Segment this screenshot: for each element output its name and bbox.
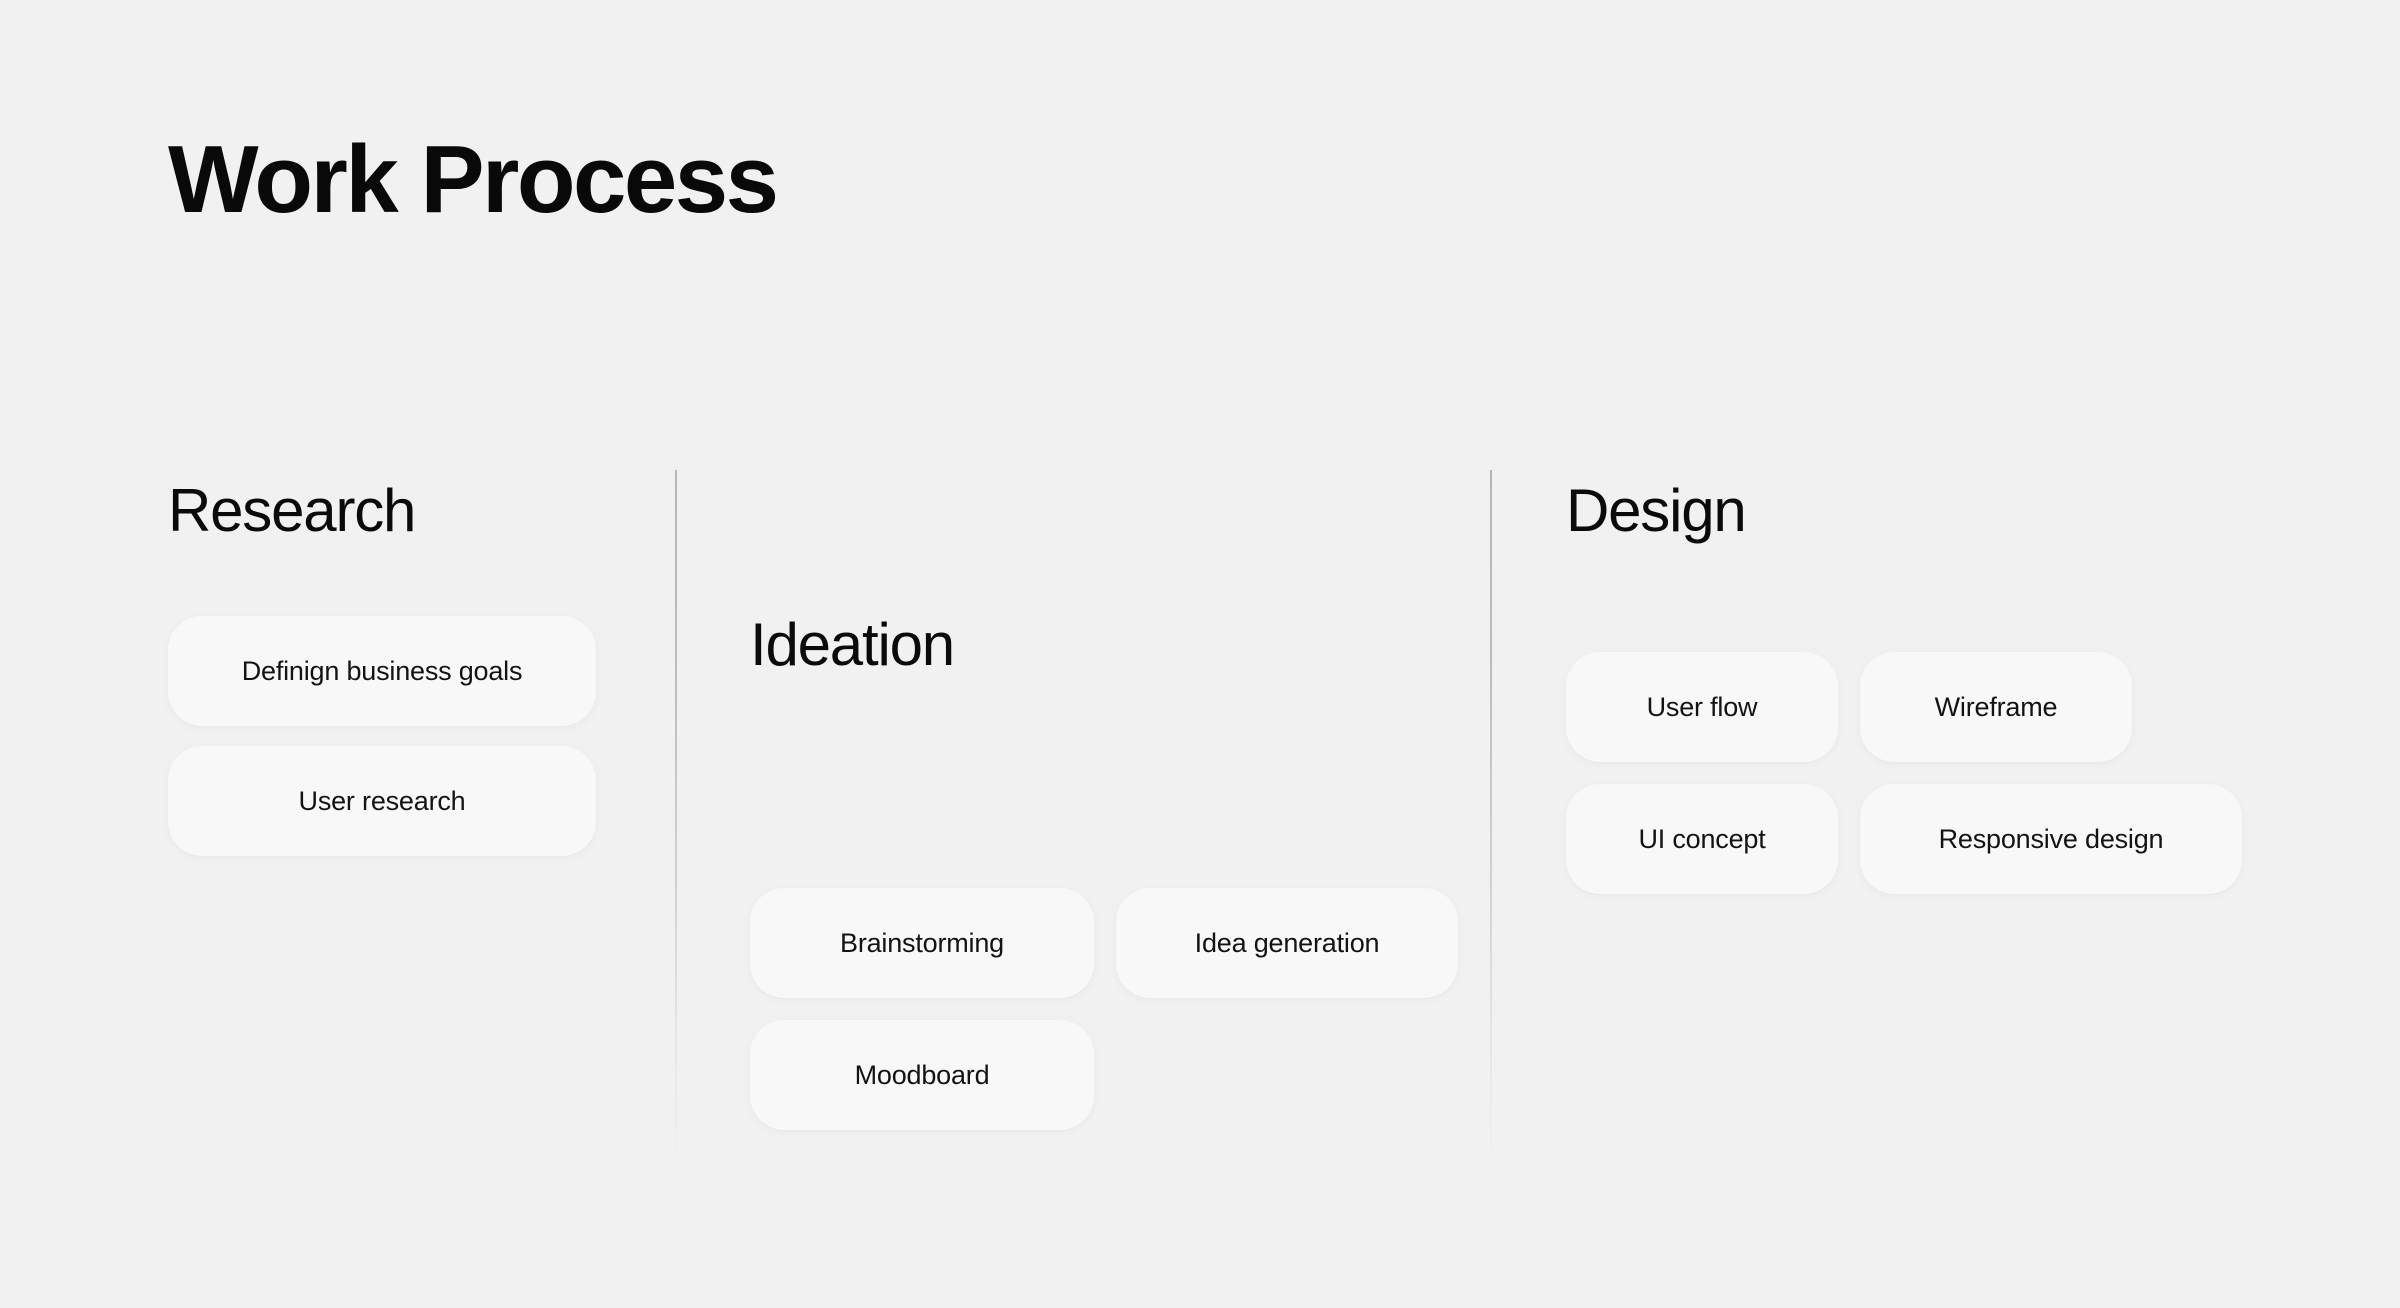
column-heading-ideation: Ideation	[750, 612, 954, 678]
column-divider-research-ideation	[675, 470, 677, 1170]
pill-wireframe[interactable]: Wireframe	[1860, 652, 2132, 762]
pill-idea-generation[interactable]: Idea generation	[1116, 888, 1458, 998]
column-heading-design: Design	[1566, 478, 1746, 544]
pill-definign-business-goals[interactable]: Definign business goals	[168, 616, 596, 726]
pill-ui-concept[interactable]: UI concept	[1566, 784, 1838, 894]
pill-list-research: Definign business goals User research	[168, 616, 596, 856]
pill-list-design: User flow Wireframe UI concept Responsiv…	[1566, 652, 2242, 894]
column-heading-research: Research	[168, 478, 415, 544]
column-divider-ideation-design	[1490, 470, 1492, 1170]
work-process-board: Research Definign business goals User re…	[0, 0, 2400, 1308]
pill-list-ideation: Brainstorming Idea generation Moodboard	[750, 888, 1458, 1130]
pill-responsive-design[interactable]: Responsive design	[1860, 784, 2242, 894]
pill-user-research[interactable]: User research	[168, 746, 596, 856]
pill-moodboard[interactable]: Moodboard	[750, 1020, 1094, 1130]
pill-brainstorming[interactable]: Brainstorming	[750, 888, 1094, 998]
pill-user-flow[interactable]: User flow	[1566, 652, 1838, 762]
